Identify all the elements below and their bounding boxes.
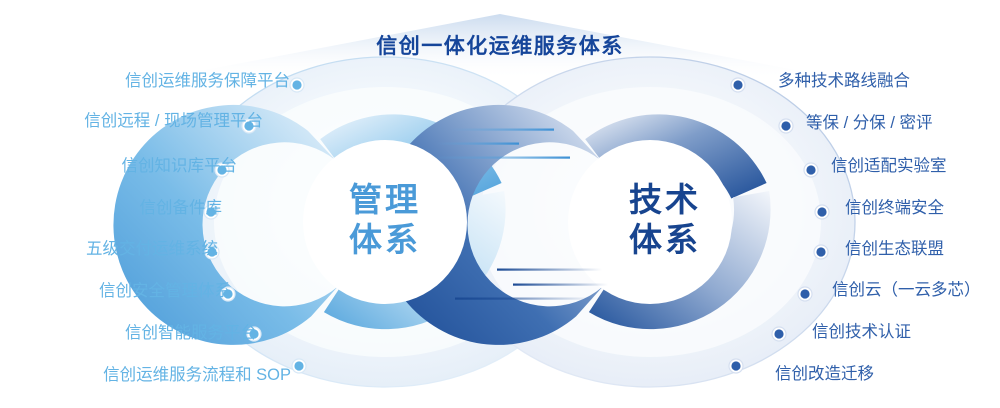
right-item-label-2[interactable]: 等保 / 分保 / 密评 [806, 115, 1000, 132]
node-dot[interactable] [774, 329, 783, 338]
left-item-label-1[interactable]: 信创运维服务保障平台 [0, 73, 290, 90]
left-item-label-7[interactable]: 信创智能服务平台 [0, 325, 257, 342]
node-dot[interactable] [731, 361, 740, 370]
infographic-canvas: 信创一体化运维服务体系 管理 体系 技术 体系 信创运维服务保障平台 信创远程 … [0, 0, 1000, 408]
left-item-label-2[interactable]: 信创远程 / 现场管理平台 [0, 113, 263, 130]
node-dot[interactable] [817, 207, 826, 216]
right-item-label-5[interactable]: 信创生态联盟 [845, 241, 1000, 258]
right-item-label-3[interactable]: 信创适配实验室 [831, 158, 1000, 175]
left-item-label-4[interactable]: 信创备件库 [0, 200, 222, 217]
node-dot[interactable] [294, 361, 303, 370]
right-item-label-4[interactable]: 信创终端安全 [845, 200, 1000, 217]
node-dot[interactable] [781, 121, 790, 130]
left-item-label-3[interactable]: 信创知识库平台 [0, 158, 237, 175]
node-dot[interactable] [800, 289, 809, 298]
left-item-label-5[interactable]: 五级交付运维系统 [0, 241, 218, 258]
right-item-label-6[interactable]: 信创云（一云多芯） [832, 282, 1000, 299]
left-hub-caption: 管理 体系 [295, 180, 475, 261]
node-dot[interactable] [292, 80, 301, 89]
right-hub-line-2: 体系 [575, 220, 755, 260]
page-title: 信创一体化运维服务体系 [0, 30, 1000, 60]
left-item-label-6[interactable]: 信创安全管理体系 [0, 283, 231, 300]
right-item-label-8[interactable]: 信创改造迁移 [775, 366, 1000, 383]
right-hub-line-1: 技术 [575, 180, 755, 220]
left-item-label-8[interactable]: 信创运维服务流程和 SOP [0, 367, 291, 384]
node-dot[interactable] [806, 165, 815, 174]
node-dot[interactable] [733, 80, 742, 89]
right-hub-caption: 技术 体系 [575, 180, 755, 261]
right-item-label-7[interactable]: 信创技术认证 [812, 324, 1000, 341]
left-hub-line-2: 体系 [295, 220, 475, 260]
node-dot[interactable] [816, 247, 825, 256]
left-hub-line-1: 管理 [295, 180, 475, 220]
right-item-label-1[interactable]: 多种技术路线融合 [778, 73, 1000, 90]
